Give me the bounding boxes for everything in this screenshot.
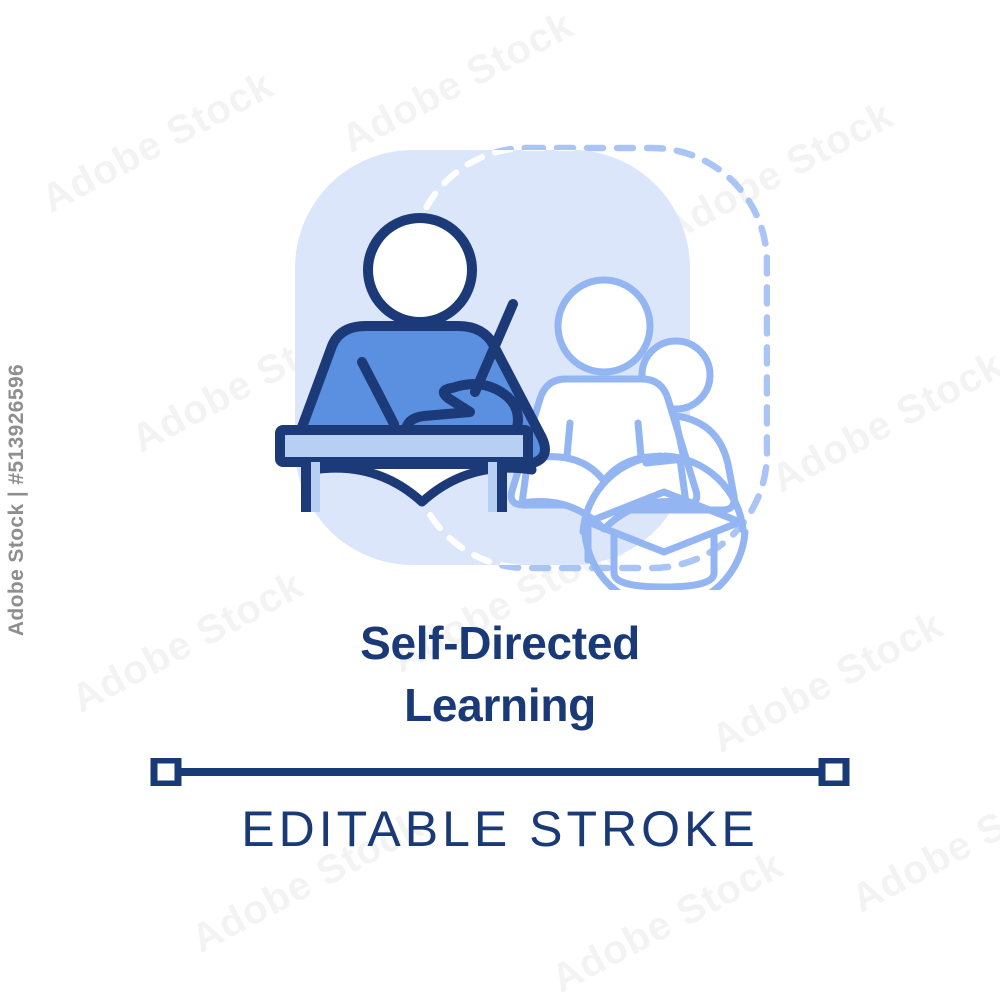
stroke-handle-right[interactable] <box>822 760 846 784</box>
concept-icon <box>270 130 770 590</box>
watermark-tile: Adobe Stock <box>34 63 281 223</box>
watermark-tile: Adobe Stock <box>544 843 791 1002</box>
watermark-tile: Adobe Stock <box>764 343 1000 503</box>
page-title-line-1: Self-Directed <box>0 612 1000 674</box>
desk-top <box>280 430 528 462</box>
artboard: Adobe Stock Adobe Stock Adobe Stock Adob… <box>0 0 1000 1000</box>
stroke-handle-left[interactable] <box>154 760 178 784</box>
editable-stroke-caption: EDITABLE STROKE <box>0 800 1000 858</box>
desk-left-leg-fill <box>311 462 320 512</box>
student-head-icon <box>368 218 472 322</box>
editable-stroke-bar <box>150 758 850 786</box>
page-title: Self-Directed Learning <box>0 612 1000 736</box>
parent-head-icon <box>558 280 650 372</box>
page-title-line-2: Learning <box>0 674 1000 736</box>
desk-right-leg-fill <box>488 462 497 512</box>
